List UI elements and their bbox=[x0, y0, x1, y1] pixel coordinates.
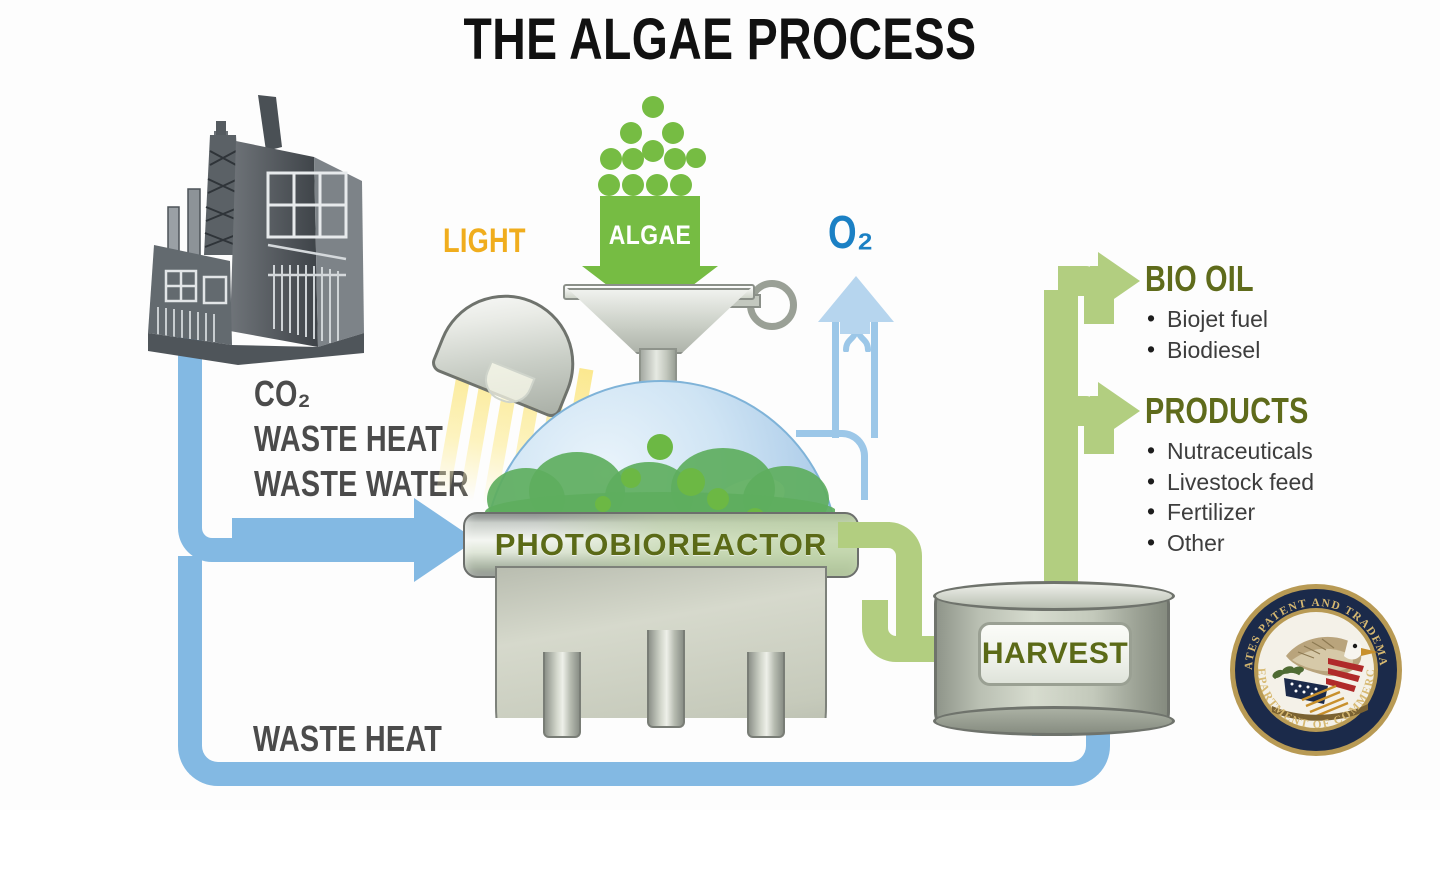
o2-arrow-head-icon bbox=[818, 276, 894, 322]
list-item: Fertilizer bbox=[1145, 497, 1349, 528]
light-label: LIGHT bbox=[443, 222, 526, 261]
waste-heat-pipe-bottom bbox=[240, 762, 1070, 786]
page-title: THE ALGAE PROCESS bbox=[144, 6, 1296, 73]
algae-dots-icon bbox=[592, 96, 712, 204]
algae-label: ALGAE bbox=[608, 220, 693, 251]
output-item-list: Nutraceuticals Livestock feed Fertilizer… bbox=[1145, 436, 1349, 558]
list-item: Other bbox=[1145, 528, 1349, 559]
list-item: Livestock feed bbox=[1145, 467, 1349, 498]
return-label-waste-heat: WASTE HEAT bbox=[253, 718, 442, 760]
output-heading: PRODUCTS bbox=[1145, 390, 1309, 432]
photobioreactor: PHOTOBIOREACTOR bbox=[455, 330, 865, 720]
output-block-products: PRODUCTS Nutraceuticals Livestock feed F… bbox=[1145, 390, 1349, 558]
o2-label: O₂ bbox=[828, 205, 873, 259]
output-heading: BIO OIL bbox=[1145, 258, 1254, 300]
products-arrow-icon bbox=[1098, 382, 1140, 440]
harvest-tank-bottom-rim bbox=[933, 706, 1175, 736]
output-block-bio-oil: BIO OIL Biojet fuel Biodiesel bbox=[1145, 258, 1281, 365]
reactor-leg bbox=[747, 652, 785, 738]
waste-heat-pipe-corner-left bbox=[178, 716, 248, 786]
harvest-label-plate: HARVEST bbox=[978, 622, 1132, 686]
co2-pipe-corner bbox=[178, 500, 238, 562]
list-item: Biodiesel bbox=[1145, 335, 1281, 366]
harvest-label: HARVEST bbox=[982, 637, 1128, 671]
uspto-seal: UNITED STATES PATENT AND TRADEMARK OFFIC… bbox=[1228, 582, 1404, 758]
harvest-tank-top-rim bbox=[933, 581, 1175, 611]
list-item: Biojet fuel bbox=[1145, 304, 1281, 335]
co2-pipe-horizontal bbox=[232, 518, 427, 562]
reactor-leg bbox=[647, 630, 685, 728]
list-item: Nutraceuticals bbox=[1145, 436, 1349, 467]
funnel-icon bbox=[567, 288, 751, 354]
infographic-canvas: THE ALGAE PROCESS bbox=[0, 0, 1440, 810]
harvest-tank: HARVEST bbox=[934, 592, 1170, 724]
input-label-waste-heat: WASTE HEAT bbox=[254, 418, 443, 460]
input-label-co2: CO₂ bbox=[254, 373, 311, 415]
reactor-leg bbox=[543, 652, 581, 738]
industrial-plant-illustration bbox=[118, 95, 380, 365]
biooil-arrow-icon bbox=[1098, 252, 1140, 310]
output-item-list: Biojet fuel Biodiesel bbox=[1145, 304, 1281, 365]
